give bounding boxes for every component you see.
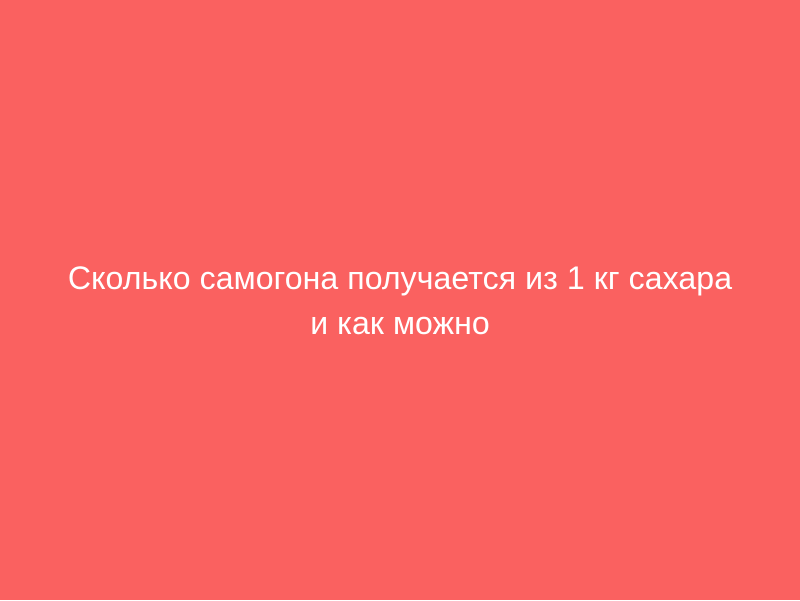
title-line-2: и как можно: [24, 301, 776, 346]
page-title: Сколько самогона получается из 1 кг саха…: [0, 1, 800, 601]
title-card: Сколько самогона получается из 1 кг саха…: [0, 0, 800, 600]
title-line-1: Сколько самогона получается из 1 кг саха…: [24, 256, 776, 301]
